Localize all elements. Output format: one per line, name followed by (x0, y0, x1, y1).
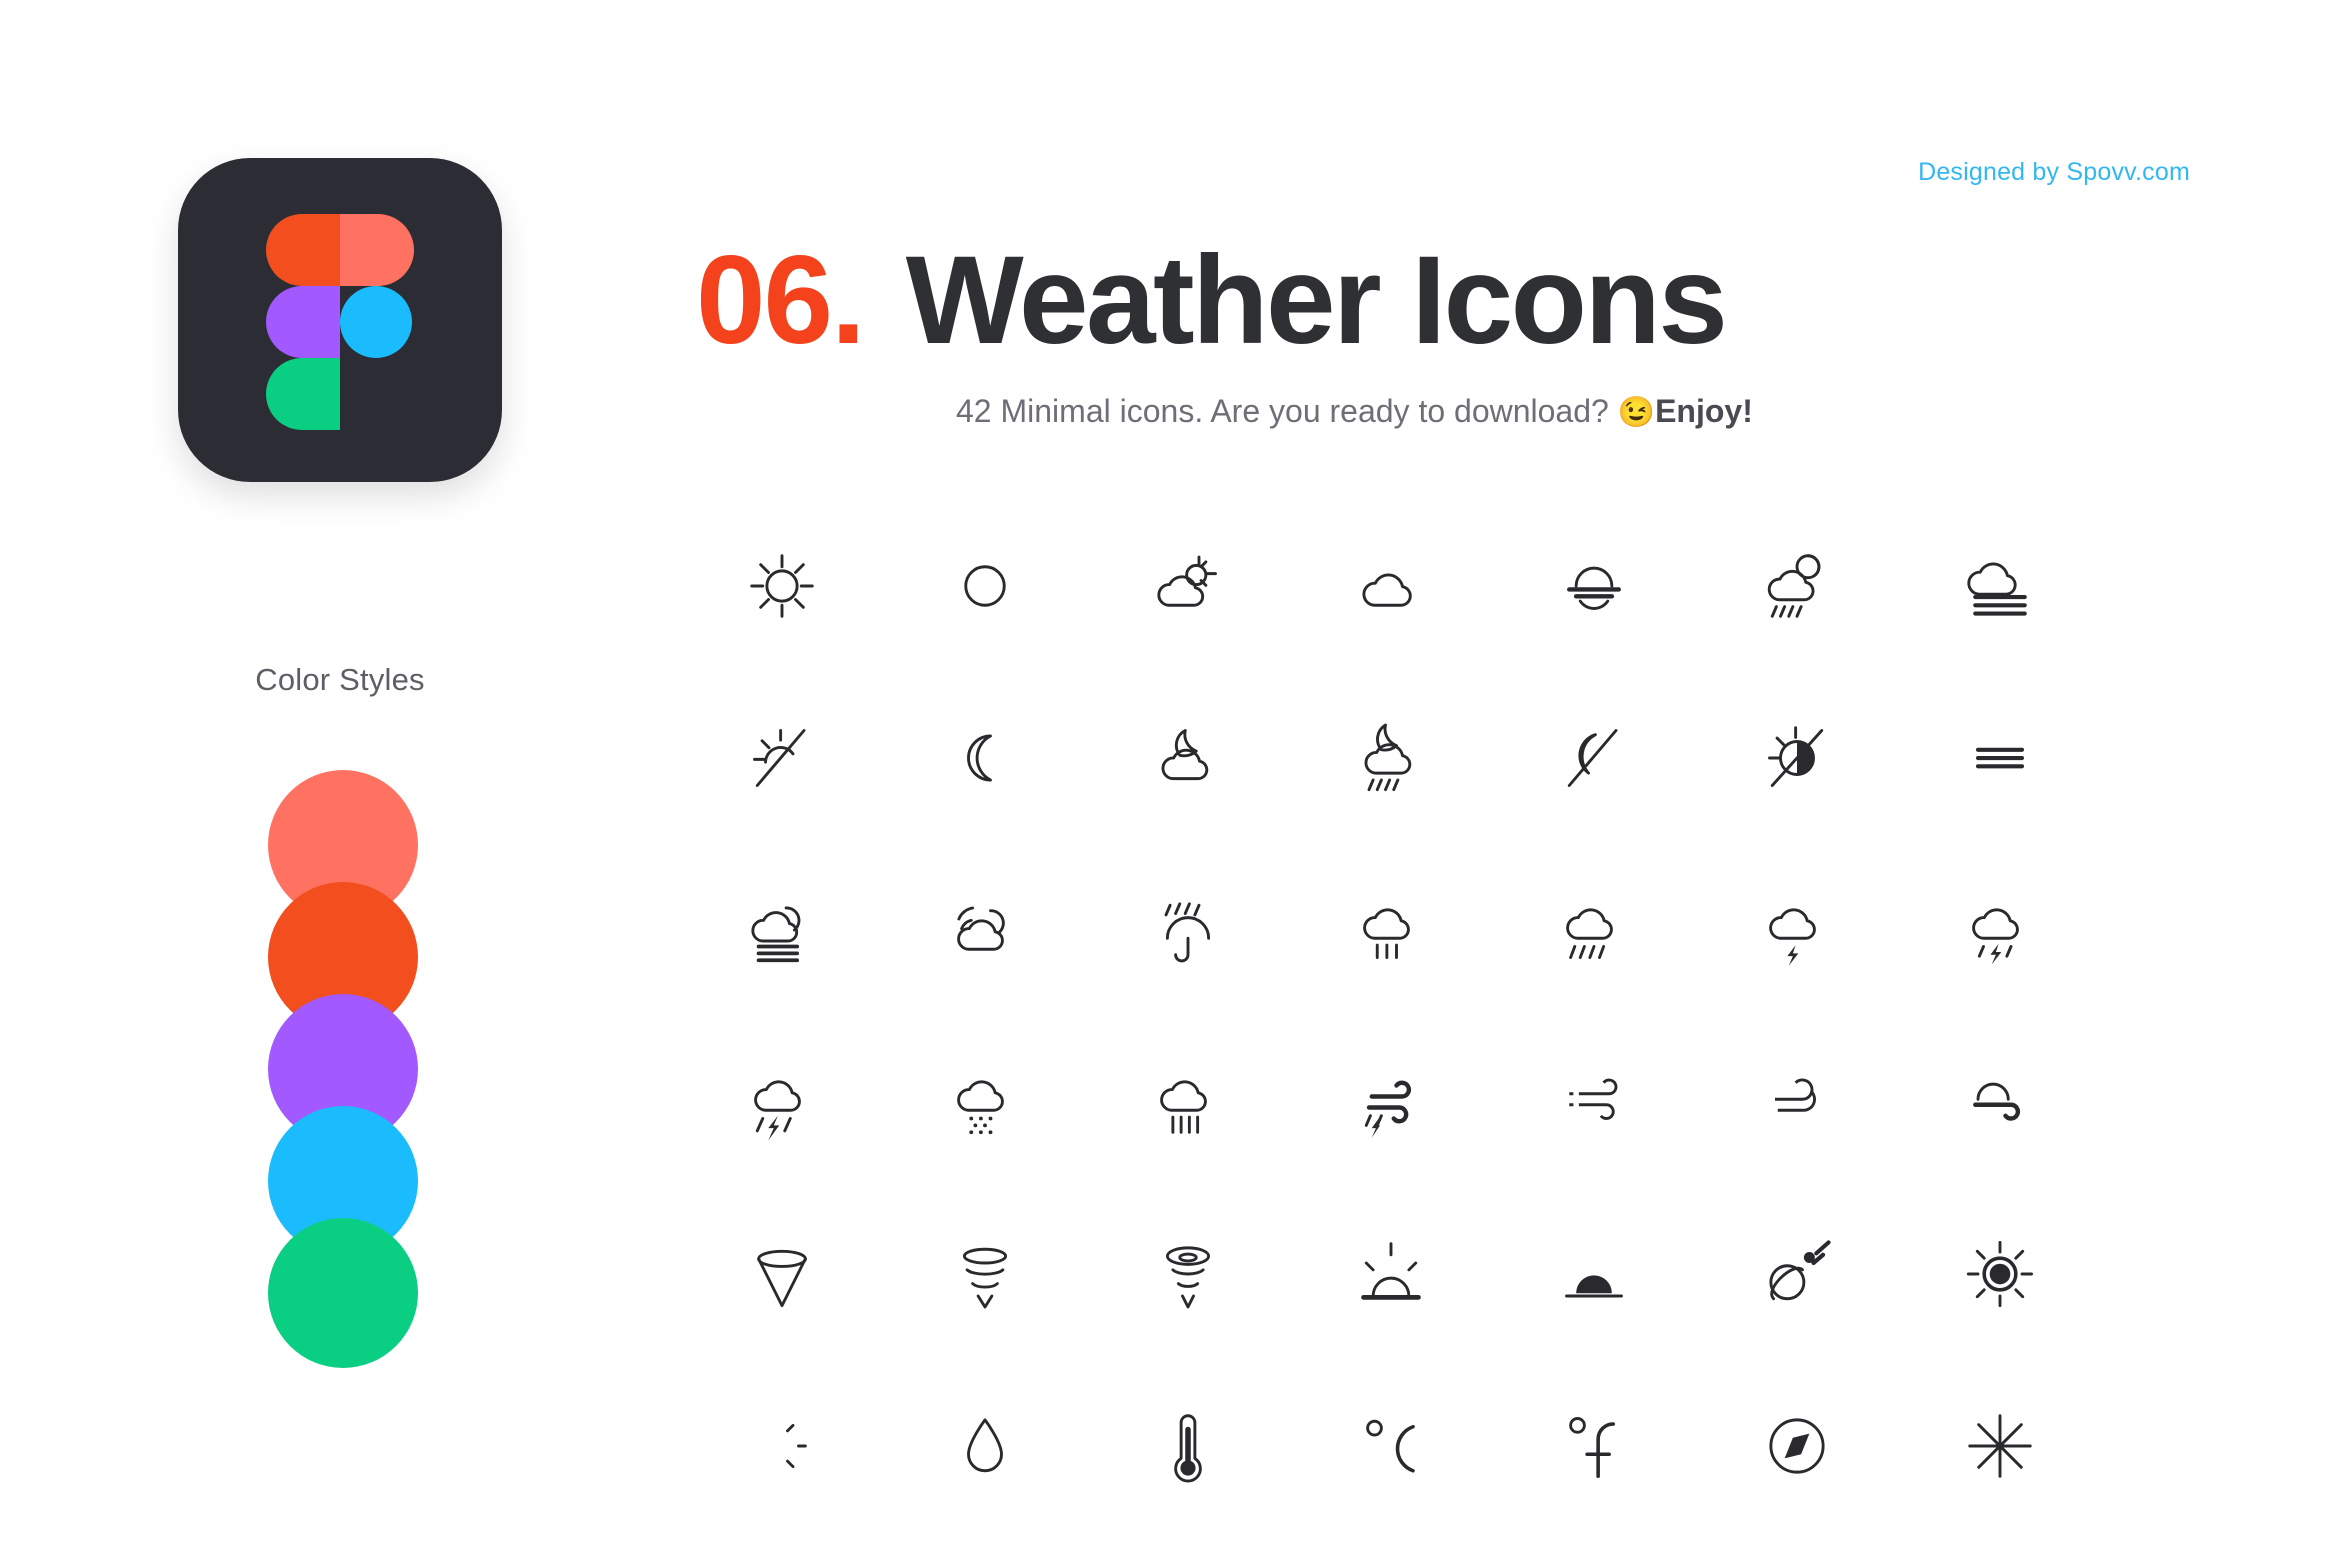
cloud-drizzle-icon[interactable] (1289, 844, 1492, 1016)
moon-cloud-rain-icon[interactable] (1289, 672, 1492, 844)
credit-link[interactable]: Designed by Spovv.com (1918, 158, 2190, 187)
cloud-hail-icon[interactable] (883, 1016, 1086, 1188)
sun-horizon-icon[interactable] (1492, 500, 1695, 672)
compass-icon[interactable] (1695, 1360, 1898, 1532)
snowflake-icon[interactable] (1898, 1360, 2101, 1532)
hurricane-icon[interactable] (1086, 1188, 1289, 1360)
page-title: 06. Weather Icons (696, 238, 1725, 363)
subtitle-enjoy: Enjoy (1655, 393, 1742, 429)
sun-eclipse-icon[interactable] (1695, 672, 1898, 844)
sunset-filled-icon[interactable] (1492, 1188, 1695, 1360)
figma-logo (178, 158, 502, 482)
subtitle-prefix: 42 Minimal icons. Are you ready to downl… (956, 393, 1618, 429)
moon-crescent-icon[interactable] (883, 672, 1086, 844)
cloud-icon[interactable] (1289, 500, 1492, 672)
sunrise-half-icon[interactable] (680, 672, 883, 844)
cloud-fog-icon[interactable] (1898, 500, 2101, 672)
wind-cloud-icon[interactable] (1898, 1016, 2101, 1188)
title-number: 06. (696, 238, 864, 363)
cloud-rain-heavy-icon[interactable] (1086, 1016, 1289, 1188)
fahrenheit-icon[interactable] (1492, 1360, 1695, 1532)
color-swatch-green[interactable] (268, 1218, 418, 1368)
page-subtitle: 42 Minimal icons. Are you ready to downl… (956, 393, 1753, 430)
sun-icon[interactable] (680, 500, 883, 672)
wind-lightning-icon[interactable] (1289, 1016, 1492, 1188)
moon-slash-icon[interactable] (1492, 672, 1695, 844)
tornado-cone-icon[interactable] (680, 1188, 883, 1360)
color-styles-title: Color Styles (0, 662, 680, 698)
planet-comet-icon[interactable] (1695, 1188, 1898, 1360)
sun-filled-icon[interactable] (1898, 1188, 2101, 1360)
umbrella-rain-icon[interactable] (1086, 844, 1289, 1016)
cloud-rain-icon[interactable] (1492, 844, 1695, 1016)
cloud-rain-light-icon[interactable] (1695, 500, 1898, 672)
haze-lines-icon[interactable] (1898, 672, 2101, 844)
tornado-icon[interactable] (883, 1188, 1086, 1360)
icon-grid (680, 500, 2100, 1532)
clouds-fog-icon[interactable] (680, 844, 883, 1016)
moon-behind-cloud-icon[interactable] (1086, 672, 1289, 844)
celsius-icon[interactable] (1289, 1360, 1492, 1532)
thermometer-icon[interactable] (1086, 1360, 1289, 1532)
eclipse-icon[interactable] (680, 1360, 883, 1532)
humidity-drop-icon[interactable] (883, 1360, 1086, 1532)
sun-behind-cloud-icon[interactable] (1086, 500, 1289, 672)
figma-shape-bottom-left (266, 358, 340, 430)
wink-emoji: 😉 (1618, 396, 1655, 429)
wind-icon[interactable] (1492, 1016, 1695, 1188)
cloud-lightning-rain-icon[interactable] (1898, 844, 2101, 1016)
figma-shape-top-left (266, 214, 340, 286)
wind-curl-icon[interactable] (1695, 1016, 1898, 1188)
subtitle-suffix: ! (1742, 393, 1753, 429)
title-text: Weather Icons (906, 238, 1726, 363)
cloud-thunder-rain-icon[interactable] (680, 1016, 883, 1188)
circle-moon-icon[interactable] (883, 500, 1086, 672)
color-swatch-stack (268, 770, 418, 1370)
cloud-lightning-icon[interactable] (1695, 844, 1898, 1016)
sunrise-icon[interactable] (1289, 1188, 1492, 1360)
figma-glyph (266, 214, 414, 430)
figma-shape-mid-right (340, 286, 412, 358)
clouds-wind-icon[interactable] (883, 844, 1086, 1016)
figma-shape-mid-left (266, 286, 340, 358)
figma-shape-top-right (340, 214, 414, 286)
